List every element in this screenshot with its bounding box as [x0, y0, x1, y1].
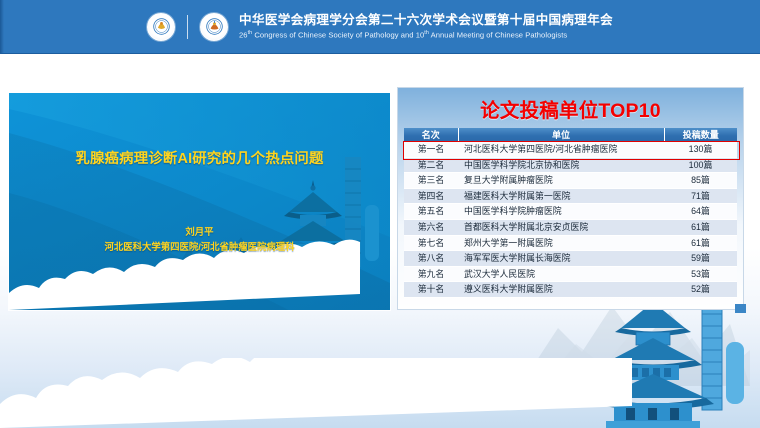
cell-unit: 复旦大学附属肿瘤医院	[458, 173, 664, 189]
slide-title: 乳腺癌病理诊断AI研究的几个热点问题	[9, 147, 390, 168]
cell-unit: 海军军医大学附属长海医院	[458, 251, 664, 267]
cell-rank: 第七名	[404, 235, 458, 251]
cell-rank: 第八名	[404, 251, 458, 267]
column-header-rank: 名次	[404, 128, 458, 142]
cell-rank: 第四名	[404, 188, 458, 204]
cell-rank: 第三名	[404, 173, 458, 189]
cell-unit: 中国医学科学院北京协和医院	[458, 157, 664, 173]
cell-count: 53篇	[664, 266, 737, 282]
cell-unit: 中国医学科学院肿瘤医院	[458, 204, 664, 220]
society-emblem-right-icon	[200, 13, 228, 41]
logo-divider	[187, 15, 188, 39]
table-row[interactable]: 第七名 郑州大学第一附属医院 61篇	[404, 235, 737, 251]
column-header-count: 投稿数量	[664, 128, 737, 142]
panel-title: 论文投稿单位TOP10	[398, 94, 743, 123]
cell-unit: 河北医科大学第四医院/河北省肿瘤医院	[458, 142, 664, 157]
table-row[interactable]: 第八名 海军军医大学附属长海医院 59篇	[404, 251, 737, 267]
table-row[interactable]: 第六名 首都医科大学附属北京安贞医院 61篇	[404, 219, 737, 235]
conference-banner: 中华医学会病理学分会第二十六次学术会议暨第十届中国病理年会 26th Congr…	[0, 0, 760, 54]
table-row[interactable]: 第五名 中国医学科学院肿瘤医院 64篇	[404, 204, 737, 220]
table-row[interactable]: 第四名 福建医科大学附属第一医院 71篇	[404, 188, 737, 204]
table-row[interactable]: 第十名 遵义医科大学附属医院 52篇	[404, 282, 737, 298]
table-body: 第一名 河北医科大学第四医院/河北省肿瘤医院 130篇 第二名 中国医学科学院北…	[404, 142, 737, 297]
slide-author: 刘月平	[9, 224, 390, 239]
cell-count: 61篇	[664, 235, 737, 251]
cell-unit: 遵义医科大学附属医院	[458, 282, 664, 298]
slide-affiliation: 河北医科大学第四医院/河北省肿瘤医院病理科	[9, 239, 390, 254]
cell-count: 71篇	[664, 188, 737, 204]
cell-count: 100篇	[664, 157, 737, 173]
cell-rank: 第九名	[404, 266, 458, 282]
top10-submissions-panel[interactable]: 论文投稿单位TOP10 名次 单位 投稿数量 第一名 河北医科大学第四医院/河北…	[398, 88, 743, 309]
cell-count: 59篇	[664, 251, 737, 267]
cell-count: 85篇	[664, 173, 737, 189]
society-emblem-left-icon	[147, 13, 175, 41]
cell-unit: 武汉大学人民医院	[458, 266, 664, 282]
top10-table: 名次 单位 投稿数量 第一名 河北医科大学第四医院/河北省肿瘤医院 130篇 第…	[404, 128, 737, 298]
cell-count: 52篇	[664, 282, 737, 298]
cell-rank: 第十名	[404, 282, 458, 298]
cell-unit: 首都医科大学附属北京安贞医院	[458, 219, 664, 235]
banner-title-cn: 中华医学会病理学分会第二十六次学术会议暨第十届中国病理年会	[239, 13, 613, 28]
cell-count: 64篇	[664, 204, 737, 220]
table-row[interactable]: 第九名 武汉大学人民医院 53篇	[404, 266, 737, 282]
cell-count: 130篇	[664, 142, 737, 157]
clouds-icon	[0, 358, 760, 428]
table-row[interactable]: 第三名 复旦大学附属肿瘤医院 85篇	[404, 173, 737, 189]
column-header-unit: 单位	[458, 128, 664, 142]
cell-count: 61篇	[664, 219, 737, 235]
panel-corner-chip	[735, 304, 746, 313]
slide-artwork	[9, 93, 390, 310]
table-header-row: 名次 单位 投稿数量	[404, 128, 737, 142]
table-row[interactable]: 第二名 中国医学科学院北京协和医院 100篇	[404, 157, 737, 173]
banner-title-en: 26th Congress of Chinese Society of Path…	[239, 28, 613, 41]
cell-rank: 第二名	[404, 157, 458, 173]
table-row[interactable]: 第一名 河北医科大学第四医院/河北省肿瘤医院 130篇	[404, 142, 737, 157]
cell-rank: 第一名	[404, 142, 458, 157]
cell-rank: 第五名	[404, 204, 458, 220]
cell-rank: 第六名	[404, 219, 458, 235]
cell-unit: 福建医科大学附属第一医院	[458, 188, 664, 204]
cell-unit: 郑州大学第一附属医院	[458, 235, 664, 251]
presentation-title-slide[interactable]: 乳腺癌病理诊断AI研究的几个热点问题 刘月平 河北医科大学第四医院/河北省肿瘤医…	[9, 93, 390, 310]
